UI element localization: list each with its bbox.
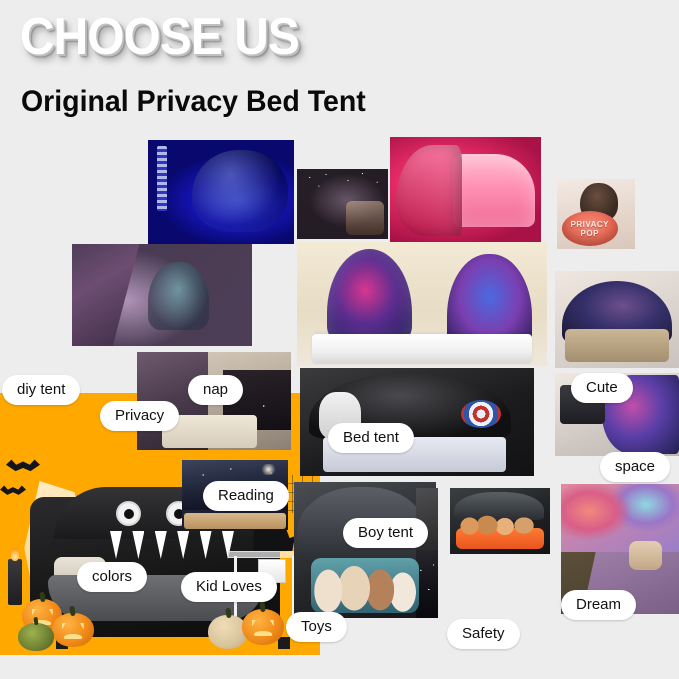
label-dream: Dream [561,590,636,620]
pumpkin-icon [52,613,94,647]
label-reading: Reading [203,481,289,511]
label-bed-tent: Bed tent [328,423,414,453]
label-cute: Cute [571,373,633,403]
label-privacy: Privacy [100,401,179,431]
photo-galaxy-tent-bedroom [297,242,547,366]
photo-cute-galaxy-tent [555,271,679,368]
photo-pink-bed-tent [390,137,541,242]
page-subtitle: Original Privacy Bed Tent [21,84,366,120]
page-title: CHOOSE US [20,8,299,66]
label-nap: nap [188,375,243,405]
pumpkin-icon [242,609,284,645]
photo-black-bed-tent-interior [300,368,534,476]
photo-privacy-pop-lifestyle: PRIVACY POP [557,179,635,249]
label-colors: colors [77,562,147,592]
photo-kids-reading-in-tent [72,244,252,346]
photo-blue-glow-bed-tent [148,140,294,244]
label-toys: Toys [286,612,347,642]
label-diy-tent: diy tent [2,375,80,405]
monster-teeth-icon [110,531,234,559]
label-boy-tent: Boy tent [343,518,428,548]
photo-stuffed-toys-in-tent [450,488,550,554]
promo-canvas: CHOOSE US Original Privacy Bed Tent PRIV… [0,0,679,679]
label-safety: Safety [447,619,520,649]
candle-icon [8,559,22,605]
photo-dark-tent-strip [416,488,438,618]
bat-icon [0,485,26,498]
monster-eye-icon [116,501,141,526]
pumpkin-icon [18,623,54,651]
privacy-pop-logo: PRIVACY POP [569,220,610,238]
label-kid-loves: Kid Loves [181,572,277,602]
photo-dim-room-bed-tent [297,169,388,239]
photo-boy-tent-with-plushes [294,482,436,618]
label-space: space [600,452,670,482]
bat-icon [6,459,40,475]
